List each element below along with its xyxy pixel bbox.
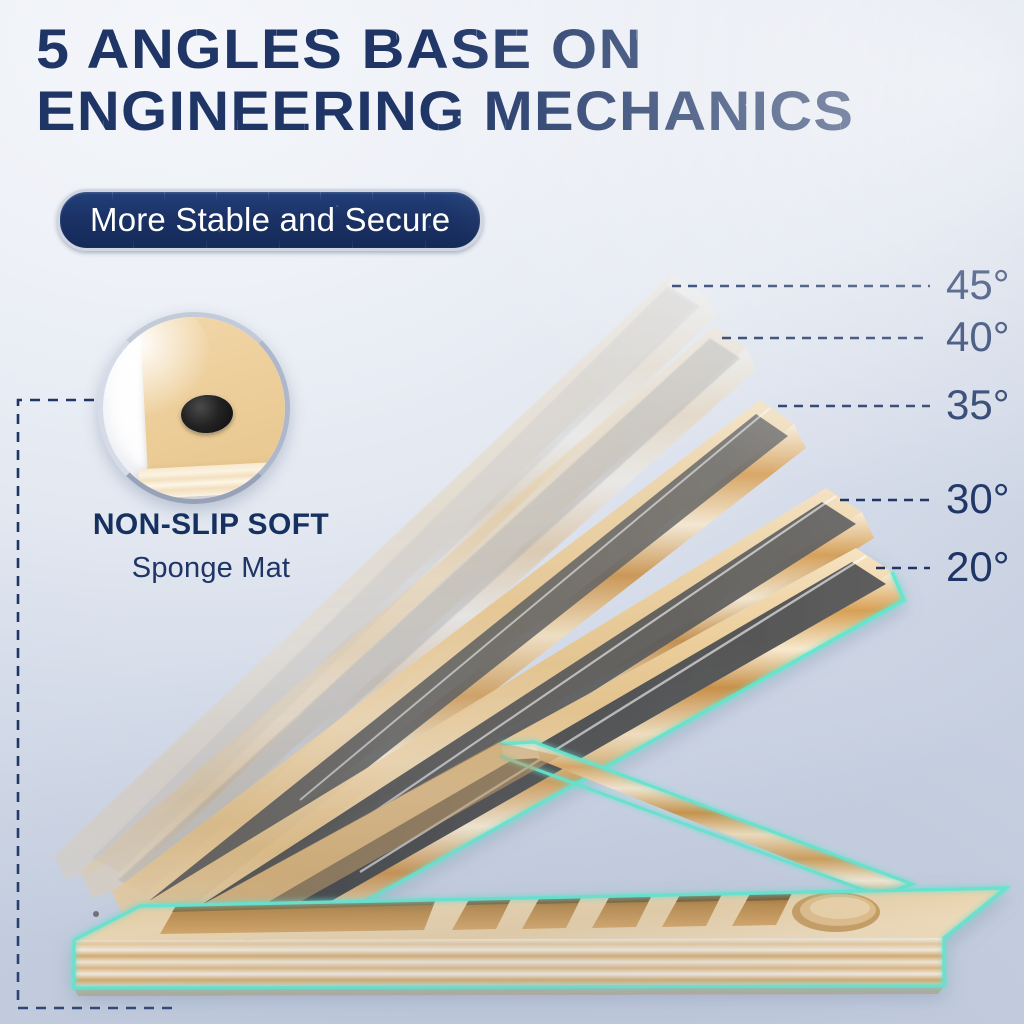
status-badge-label: More Stable and Secure bbox=[90, 201, 450, 239]
headline-line-1: 5 ANGLES BASE ON bbox=[36, 18, 990, 80]
angle-label-20: 20° bbox=[946, 543, 1010, 591]
support-strut bbox=[500, 742, 912, 896]
headline-block: 5 ANGLES BASE ON ENGINEERING MECHANICS bbox=[36, 18, 936, 142]
angle-label-30: 30° bbox=[946, 475, 1010, 523]
base-tray bbox=[74, 888, 1006, 996]
callout-title: NON-SLIP SOFT bbox=[76, 508, 346, 542]
headline-line-2: ENGINEERING MECHANICS bbox=[36, 80, 990, 142]
status-badge: More Stable and Secure bbox=[57, 189, 483, 251]
magnifier-inner bbox=[103, 317, 285, 499]
infographic-canvas: 5 ANGLES BASE ON ENGINEERING MECHANICS M… bbox=[0, 0, 1024, 1024]
magnifier-detail-circle bbox=[98, 312, 290, 504]
angle-label-35: 35° bbox=[946, 381, 1010, 429]
round-recess bbox=[792, 892, 880, 932]
callout-subtitle: Sponge Mat bbox=[76, 552, 346, 585]
angle-label-45: 45° bbox=[946, 261, 1010, 309]
angle-label-40: 40° bbox=[946, 313, 1010, 361]
